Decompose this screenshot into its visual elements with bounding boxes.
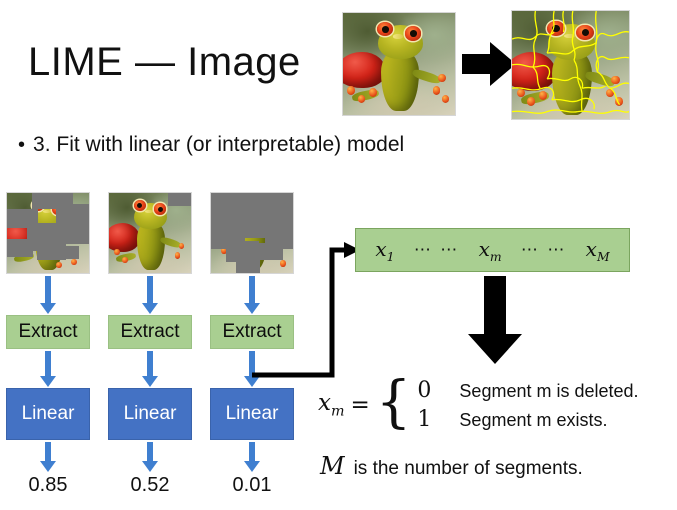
frog-pupil-right: [158, 207, 163, 212]
case-row: 1 Segment m exists.: [417, 407, 638, 432]
segmented-frog-image: [511, 10, 630, 120]
frog-toe: [56, 262, 62, 268]
bullet-line: • 3. Fit with linear (or interpretable) …: [18, 133, 404, 157]
frog-pupil-left: [552, 25, 559, 32]
m-definition-note: M is the number of segments.: [320, 452, 583, 480]
arrow-linear-to-score-1: [45, 442, 51, 462]
vector-ellipsis-right: ⋯ ⋯: [521, 240, 566, 260]
frog-cheek: [564, 34, 575, 39]
xm-definition-formula: xm = { 0 Segment m is deleted. 1 Segment…: [318, 378, 639, 432]
frog-toe: [433, 86, 441, 94]
frog-toe: [442, 95, 450, 103]
frog-eye-right: [154, 203, 166, 214]
masked-segment: [61, 246, 79, 259]
linear-box-1[interactable]: Linear: [6, 388, 90, 440]
frog-eye-left: [547, 21, 565, 36]
linear-box-3[interactable]: Linear: [210, 388, 294, 440]
elbow-connector-to-vector: [246, 234, 364, 379]
frog-eye-right: [576, 25, 594, 40]
frog-cheek: [43, 210, 51, 213]
frog-toe: [611, 76, 619, 85]
extract-label: Extract: [120, 321, 179, 343]
black-block-arrow-down: [464, 276, 526, 364]
black-block-arrow-right: [462, 40, 516, 88]
case-description: Segment m is deleted.: [459, 381, 638, 402]
score-value-3: 0.01: [210, 474, 294, 497]
score-value-1: 0.85: [6, 474, 90, 497]
case-row: 0 Segment m is deleted.: [417, 378, 638, 403]
bullet-marker-icon: •: [18, 135, 25, 155]
linear-label: Linear: [226, 403, 279, 425]
cases-rows: 0 Segment m is deleted. 1 Segment m exis…: [417, 378, 638, 432]
feature-vector-box[interactable]: x1 ⋯ ⋯ xm ⋯ ⋯ xM: [355, 228, 630, 272]
vector-element-last: xM: [586, 237, 610, 264]
frog-toe: [114, 249, 120, 255]
frog-toe: [358, 95, 366, 103]
linear-label: Linear: [22, 403, 75, 425]
frog-pupil-left: [382, 26, 389, 32]
arrow-extract-to-linear-1: [45, 351, 51, 377]
red-heart-shape: [108, 223, 140, 252]
arrow-extract-to-linear-2: [147, 351, 153, 377]
frog-eye-right: [405, 26, 422, 40]
arrow-linear-to-score-2: [147, 442, 153, 462]
masked-segment: [56, 204, 90, 244]
frog-toe: [369, 88, 377, 96]
vector-element-first: x1: [375, 237, 394, 264]
frog-cheek: [393, 34, 404, 38]
m-symbol: M: [320, 452, 345, 480]
frog-pupil-left: [137, 203, 142, 208]
red-heart-shape: [342, 52, 386, 89]
extract-box-2[interactable]: Extract: [108, 315, 192, 349]
vector-element-m: xm: [479, 237, 502, 264]
masked-segment: [6, 239, 33, 257]
left-curly-brace: {: [376, 381, 412, 426]
frog-toe: [517, 89, 525, 98]
bullet-text: 3. Fit with linear (or interpretable) mo…: [33, 133, 404, 157]
frog-pupil-right: [582, 29, 589, 36]
arrow-linear-to-score-3: [249, 442, 255, 462]
case-value: 1: [417, 407, 431, 432]
formula-lhs: xm: [318, 390, 345, 420]
arrow-sample-to-extract-2: [147, 276, 153, 304]
linear-box-2[interactable]: Linear: [108, 388, 192, 440]
arrow-sample-to-extract-1: [45, 276, 51, 304]
linear-label: Linear: [124, 403, 177, 425]
m-note-text: is the number of segments.: [354, 458, 583, 480]
frog-toe: [71, 259, 77, 265]
perturbed-sample-image-1: [6, 192, 90, 274]
frog-toe: [539, 91, 547, 100]
perturbed-sample-image-2: [108, 192, 192, 274]
frog-pupil-right: [410, 30, 417, 36]
frog-toe: [175, 252, 181, 258]
frog-cheek: [145, 210, 153, 213]
case-value: 0: [417, 378, 431, 403]
equals-sign: =: [351, 392, 370, 418]
score-value-2: 0.52: [108, 474, 192, 497]
extract-box-1[interactable]: Extract: [6, 315, 90, 349]
original-frog-image: [342, 12, 456, 116]
extract-label: Extract: [18, 321, 77, 343]
masked-segment: [168, 192, 192, 206]
page-title: LIME — Image: [28, 40, 301, 85]
vector-ellipsis-left: ⋯ ⋯: [414, 240, 459, 260]
frog-toe: [606, 89, 614, 98]
slide-canvas: LIME — Image: [0, 0, 677, 510]
frog-toe: [347, 86, 355, 94]
case-description: Segment m exists.: [459, 410, 607, 431]
